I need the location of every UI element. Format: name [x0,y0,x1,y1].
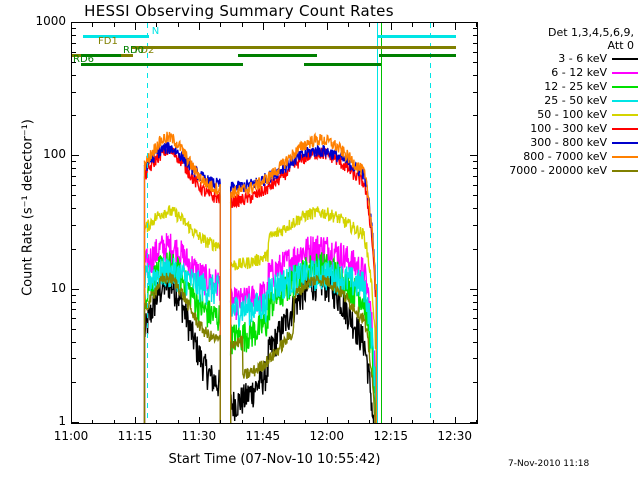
x-tick [71,23,72,30]
x-tick [391,417,392,424]
series-edge [231,342,377,424]
y-tick [72,28,76,29]
legend-color-swatch [612,86,638,88]
y-tick [72,176,76,177]
y-tick [473,92,477,93]
y-tick [473,225,477,226]
y-tick [72,185,76,186]
y-tick [72,422,79,423]
annotation-bar-rd0 [238,54,317,57]
legend-entry-label: 800 - 7000 keV [523,150,612,164]
x-tick [369,23,370,27]
x-tick-label: 12:30 [425,429,485,443]
annotation-bar-rd0 [379,54,456,57]
x-tick [284,23,285,27]
x-tick [156,23,157,27]
x-tick [327,23,328,30]
y-tick [473,309,477,310]
legend-entry[interactable]: 100 - 300 keV [488,122,638,136]
y-tick-label: 10 [20,281,66,295]
y-tick [72,52,76,53]
event-line [377,23,378,423]
legend-color-swatch [612,100,638,102]
x-tick [135,417,136,424]
y-tick [473,115,477,116]
x-tick [369,420,370,424]
y-tick [473,295,477,296]
legend-entry[interactable]: 7000 - 20000 keV [488,164,638,178]
y-tick [473,358,477,359]
y-tick [473,161,477,162]
x-tick [242,23,243,27]
y-tick-label: 1 [20,414,66,428]
y-tick [72,75,76,76]
legend-entry[interactable]: 3 - 6 keV [488,52,638,66]
legend-entry[interactable]: 50 - 100 keV [488,108,638,122]
y-tick [473,329,477,330]
legend-color-swatch [612,170,638,172]
legend-entry-label: 12 - 25 keV [544,80,612,94]
legend-header-detectors: Det 1,3,4,5,6,9, [488,26,638,39]
x-tick [263,417,264,424]
legend-entry[interactable]: 12 - 25 keV [488,80,638,94]
footer-timestamp: 7-Nov-2010 11:18 [508,459,589,469]
x-tick [263,23,264,30]
y-tick-label: 1000 [20,14,66,28]
data-curves [72,23,477,423]
y-tick [473,62,477,63]
x-tick [71,417,72,424]
event-line [147,23,148,423]
legend-entry-label: 100 - 300 keV [530,122,612,136]
x-tick [242,420,243,424]
x-tick [305,23,306,27]
y-tick [473,43,477,44]
legend-entry[interactable]: 800 - 7000 keV [488,150,638,164]
y-tick [473,195,477,196]
series-edge [145,311,221,423]
y-tick [473,52,477,53]
event-line [381,23,382,423]
y-tick [72,22,79,23]
y-tick [470,155,477,156]
x-tick [92,23,93,27]
x-tick-label: 11:00 [41,429,101,443]
y-tick [473,318,477,319]
event-line [430,23,431,423]
annotation-bar-rd6 [304,63,381,66]
y-tick [72,161,76,162]
y-tick [473,168,477,169]
y-tick [72,318,76,319]
x-tick [220,23,221,27]
x-tick [135,23,136,30]
x-tick [455,23,456,30]
x-tick [348,420,349,424]
x-tick-label: 12:00 [297,429,357,443]
y-tick [470,289,477,290]
y-tick [473,35,477,36]
annotation-bar-fd1 [132,46,456,49]
legend-color-swatch [612,156,638,158]
legend-entry-label: 50 - 100 keV [537,108,612,122]
x-tick [305,420,306,424]
y-tick [72,382,76,383]
y-tick [72,289,79,290]
legend-color-swatch [612,114,638,116]
y-tick [473,249,477,250]
annotation-label-rd0: RD0 [123,45,144,56]
x-axis-label: Start Time (07-Nov-10 10:55:42) [71,452,478,467]
y-axis-label: Count Rate (s⁻¹ detector⁻¹) [21,8,36,408]
legend-color-swatch [612,72,638,74]
y-tick [473,382,477,383]
x-tick [412,420,413,424]
y-tick [473,28,477,29]
x-tick [178,420,179,424]
y-tick [72,342,76,343]
x-tick [327,417,328,424]
x-tick [114,420,115,424]
annotation-label-rd6: RD6 [73,54,94,65]
x-tick [433,420,434,424]
page-title: HESSI Observing Summary Count Rates [0,2,478,20]
x-tick [114,23,115,27]
x-tick [92,420,93,424]
y-tick [72,115,76,116]
x-tick [220,420,221,424]
x-tick [199,417,200,424]
y-tick [72,249,76,250]
legend-entry[interactable]: 300 - 800 keV [488,136,638,150]
x-tick [199,23,200,30]
plot-canvas: NFD1FD2RD0RD6 [72,23,477,423]
y-tick [72,302,76,303]
y-tick [72,309,76,310]
y-tick [72,43,76,44]
y-tick [72,62,76,63]
x-tick [433,23,434,27]
y-tick [72,92,76,93]
plot-area: NFD1FD2RD0RD6 [71,22,478,424]
y-tick [72,329,76,330]
y-tick [473,302,477,303]
annotation-bar-rd6 [81,63,243,66]
legend-entry[interactable]: 6 - 12 keV [488,66,638,80]
x-tick [476,420,477,424]
y-tick [473,75,477,76]
legend-color-swatch [612,142,638,144]
legend-entry-label: 3 - 6 keV [558,52,612,66]
legend-entry-label: 6 - 12 keV [551,66,612,80]
y-tick [72,35,76,36]
legend-entries: 3 - 6 keV6 - 12 keV12 - 25 keV25 - 50 ke… [488,52,638,178]
y-tick [72,358,76,359]
legend-color-swatch [612,58,638,60]
annotation-bar-n [377,35,456,38]
y-tick-label: 100 [20,147,66,161]
legend-entry[interactable]: 25 - 50 keV [488,94,638,108]
y-tick [72,168,76,169]
legend-entry-label: 25 - 50 keV [544,94,612,108]
x-tick [156,420,157,424]
x-tick-label: 12:15 [361,429,421,443]
y-tick [473,342,477,343]
x-tick [391,23,392,30]
y-tick [473,185,477,186]
x-tick-label: 11:15 [105,429,165,443]
x-tick [178,23,179,27]
x-tick [348,23,349,27]
y-tick [473,176,477,177]
x-tick-label: 11:45 [233,429,293,443]
x-tick-label: 11:30 [169,429,229,443]
y-tick [72,208,76,209]
legend-entry-label: 7000 - 20000 keV [509,164,612,178]
y-tick [72,295,76,296]
annotation-label-fd1: FD1 [98,36,118,47]
legend-header-attenuator: Att 0 [488,39,638,52]
x-tick [455,417,456,424]
y-tick [473,208,477,209]
annotation-label-n: N [152,26,159,37]
legend: Det 1,3,4,5,6,9, Att 0 3 - 6 keV6 - 12 k… [488,26,638,178]
legend-color-swatch [612,128,638,130]
x-tick [476,23,477,27]
legend-entry-label: 300 - 800 keV [530,136,612,150]
y-tick [72,225,76,226]
x-tick [284,420,285,424]
x-tick [412,23,413,27]
y-tick [72,195,76,196]
y-tick [72,155,79,156]
